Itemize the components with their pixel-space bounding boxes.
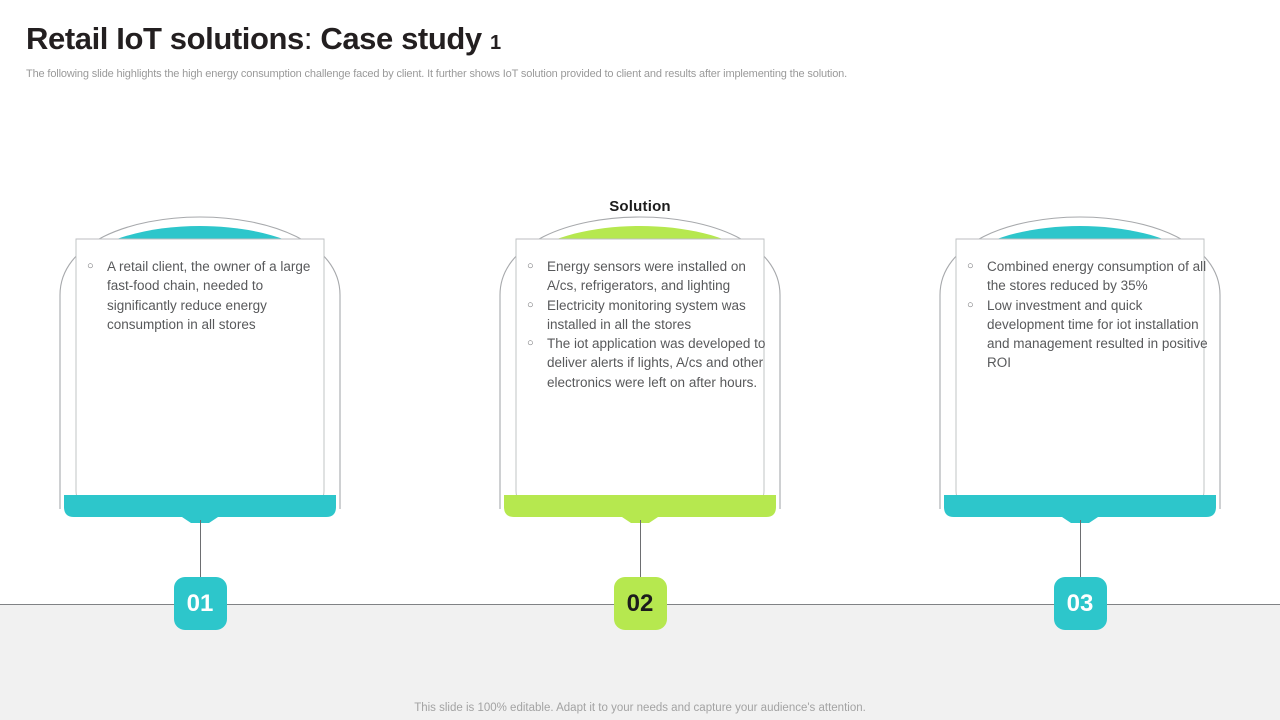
list-item: ○ Low investment and quick development t… xyxy=(966,296,1210,373)
connector-line-1 xyxy=(200,520,201,580)
bullet-text: Low investment and quick development tim… xyxy=(987,298,1208,371)
list-item: ○ Combined energy consumption of all the… xyxy=(966,257,1210,296)
bullet-marker-icon: ○ xyxy=(967,257,974,276)
footer-note: This slide is 100% editable. Adapt it to… xyxy=(0,702,1280,714)
column-solution[interactable]: Solution ○ Energy sensors were installed… xyxy=(496,143,784,523)
bullet-list-challenge: ○ A retail client, the owner of a large … xyxy=(86,257,330,334)
page-title-colon: : xyxy=(304,21,312,56)
column-challenge[interactable]: Challenge ○ A retail client, the owner o… xyxy=(56,143,344,523)
connector-line-3 xyxy=(1080,520,1081,580)
page-subtitle: The following slide highlights the high … xyxy=(26,68,847,80)
footer-bar-solution xyxy=(504,495,776,523)
footer-bar-challenge xyxy=(64,495,336,523)
header-band-results xyxy=(936,175,1224,239)
bullet-text: The iot application was developed to del… xyxy=(547,336,765,390)
bullet-list-solution: ○ Energy sensors were installed on A/cs,… xyxy=(526,257,770,392)
header-band-challenge xyxy=(56,175,344,239)
column-results[interactable]: Results ○ Combined energy consumption of… xyxy=(936,143,1224,523)
bullet-marker-icon: ○ xyxy=(87,257,94,276)
bullet-text: Electricity monitoring system was instal… xyxy=(547,298,746,332)
bullet-marker-icon: ○ xyxy=(967,296,974,315)
list-item: ○ The iot application was developed to d… xyxy=(526,334,770,392)
page-title-number: 1 xyxy=(490,32,501,54)
bullet-text: A retail client, the owner of a large fa… xyxy=(107,259,310,332)
footer-bar-results xyxy=(944,495,1216,523)
bullet-text: Energy sensors were installed on A/cs, r… xyxy=(547,259,746,293)
step-badge-03[interactable]: 03 xyxy=(1054,577,1107,630)
page-title-main: Retail IoT solutions xyxy=(26,21,304,56)
list-item: ○ Energy sensors were installed on A/cs,… xyxy=(526,257,770,296)
list-item: ○ Electricity monitoring system was inst… xyxy=(526,296,770,335)
page-title-secondary: Case study xyxy=(320,21,481,56)
bullet-marker-icon: ○ xyxy=(527,334,534,353)
list-item: ○ A retail client, the owner of a large … xyxy=(86,257,330,334)
step-badge-02[interactable]: 02 xyxy=(614,577,667,630)
step-badge-01[interactable]: 01 xyxy=(174,577,227,630)
page-title: Retail IoT solutions: Case study 1 xyxy=(26,21,501,57)
bullet-marker-icon: ○ xyxy=(527,257,534,276)
bullet-list-results: ○ Combined energy consumption of all the… xyxy=(966,257,1210,373)
connector-line-2 xyxy=(640,520,641,580)
header-band-solution xyxy=(496,175,784,239)
bullet-marker-icon: ○ xyxy=(527,296,534,315)
bullet-text: Combined energy consumption of all the s… xyxy=(987,259,1206,293)
